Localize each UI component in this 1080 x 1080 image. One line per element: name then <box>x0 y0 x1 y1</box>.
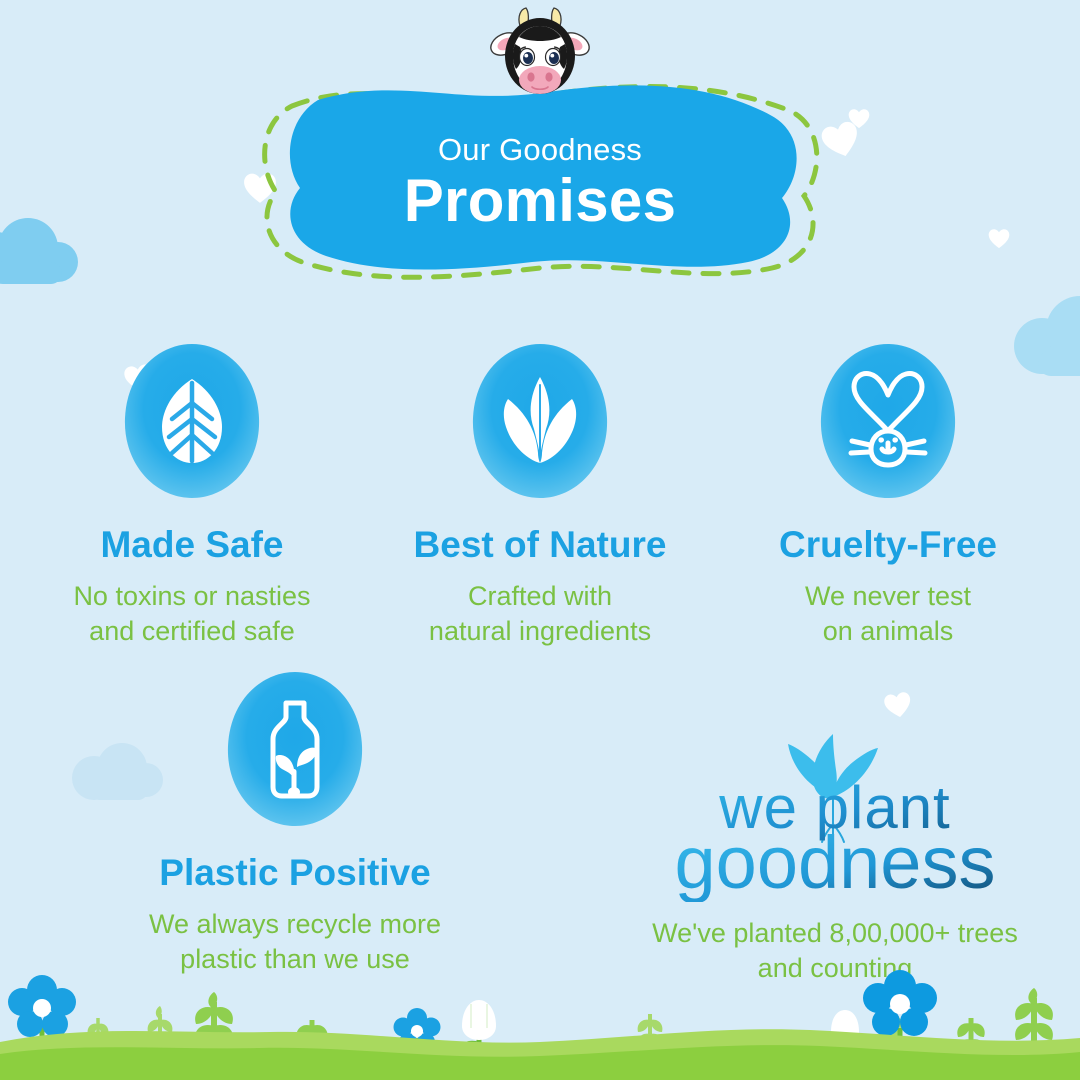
promise-desc-line-2: natural ingredients <box>429 616 651 646</box>
promise-description: We never test on animals <box>805 579 971 648</box>
we-plant-goodness-block[interactable]: we plant goodness We've planted 8,00,000… <box>590 668 1080 985</box>
promise-title: Made Safe <box>100 526 283 563</box>
promise-desc-line-1: We never test <box>805 581 971 611</box>
promise-desc-line-2: on animals <box>823 616 954 646</box>
three-leaves-sprout-icon <box>496 373 584 469</box>
we-plant-goodness-logo: we plant goodness <box>670 716 1000 902</box>
svg-text:goodness: goodness <box>675 821 996 902</box>
promises-grid: Made Safe No toxins or nasties and certi… <box>0 340 1080 648</box>
promises-infographic: Our Goodness Promises <box>0 0 1080 1080</box>
promises-row-1: Made Safe No toxins or nasties and certi… <box>0 340 1080 648</box>
heart-mid-right-icon <box>988 228 1010 249</box>
promise-desc-line-1: We always recycle more <box>149 909 441 939</box>
promise-desc-line-1: Crafted with <box>468 581 612 611</box>
promise-card-cruelty-free[interactable]: Cruelty-Free We never test on animals <box>714 340 1062 648</box>
promise-desc-line-2: and certified safe <box>89 616 295 646</box>
promise-icon-badge <box>465 340 615 502</box>
promise-title: Cruelty-Free <box>779 526 997 563</box>
heart-top-right-small-icon <box>848 108 870 129</box>
promise-icon-badge <box>117 340 267 502</box>
promise-icon-badge <box>220 668 370 830</box>
grass-with-flowers-border <box>0 950 1080 1080</box>
promise-title: Plastic Positive <box>159 854 430 891</box>
bunny-heart-ears-icon <box>838 369 938 473</box>
promise-desc-line-1: No toxins or nasties <box>73 581 310 611</box>
leaf-icon <box>156 375 228 467</box>
promises-row-2: Plastic Positive We always recycle more … <box>0 668 1080 985</box>
promise-description: No toxins or nasties and certified safe <box>73 579 310 648</box>
promise-description: Crafted with natural ingredients <box>429 579 651 648</box>
promise-card-best-of-nature[interactable]: Best of Nature Crafted with natural ingr… <box>366 340 714 648</box>
promise-icon-badge <box>813 340 963 502</box>
cow-mascot-icon <box>484 0 596 104</box>
cloud-left-icon <box>0 218 86 288</box>
banner-title: Promises <box>404 171 677 231</box>
caption-line-1: We've planted 8,00,000+ trees <box>652 918 1018 948</box>
bottle-with-sprout-icon <box>257 697 333 801</box>
banner-subtitle: Our Goodness <box>438 134 642 165</box>
promise-card-made-safe[interactable]: Made Safe No toxins or nasties and certi… <box>18 340 366 648</box>
promise-card-plastic-positive[interactable]: Plastic Positive We always recycle more … <box>0 668 590 985</box>
promise-title: Best of Nature <box>414 526 667 563</box>
